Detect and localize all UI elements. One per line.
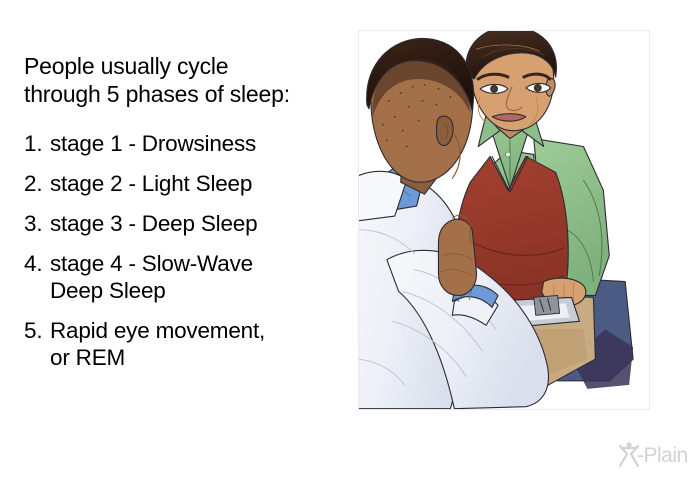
page-title: People usually cycle through 5 phases of… bbox=[24, 52, 346, 108]
list-item-label: stage 4 - Slow-Wave Deep Sleep bbox=[50, 250, 346, 304]
sleep-phase-list: 1. stage 1 - Drowsiness 2. stage 2 - Lig… bbox=[24, 130, 346, 371]
doctor-hand bbox=[438, 219, 476, 295]
list-item-label: stage 2 - Light Sleep bbox=[50, 170, 346, 197]
list-item-number: 4. bbox=[24, 250, 50, 277]
list-item-number: 3. bbox=[24, 210, 50, 237]
text-column: People usually cycle through 5 phases of… bbox=[24, 52, 346, 371]
list-item: 2. stage 2 - Light Sleep bbox=[24, 170, 346, 197]
doctor-ear bbox=[436, 116, 453, 145]
list-item-label: Rapid eye movement, or REM bbox=[50, 317, 346, 371]
list-item: 4. stage 4 - Slow-Wave Deep Sleep bbox=[24, 250, 346, 304]
list-item: 5. Rapid eye movement, or REM bbox=[24, 317, 346, 371]
list-item-label: stage 1 - Drowsiness bbox=[50, 130, 346, 157]
list-item: 1. stage 1 - Drowsiness bbox=[24, 130, 346, 157]
list-item-number: 5. bbox=[24, 317, 50, 344]
brand-logo: -Plain bbox=[618, 440, 692, 470]
list-item: 3. stage 3 - Deep Sleep bbox=[24, 210, 346, 237]
brand-logo-text: -Plain bbox=[637, 445, 688, 466]
list-item-number: 1. bbox=[24, 130, 50, 157]
list-item-label: stage 3 - Deep Sleep bbox=[50, 210, 346, 237]
illustration-panel bbox=[358, 30, 650, 410]
doctor-patient-illustration bbox=[359, 31, 649, 409]
list-item-number: 2. bbox=[24, 170, 50, 197]
slide-canvas: People usually cycle through 5 phases of… bbox=[0, 0, 700, 480]
